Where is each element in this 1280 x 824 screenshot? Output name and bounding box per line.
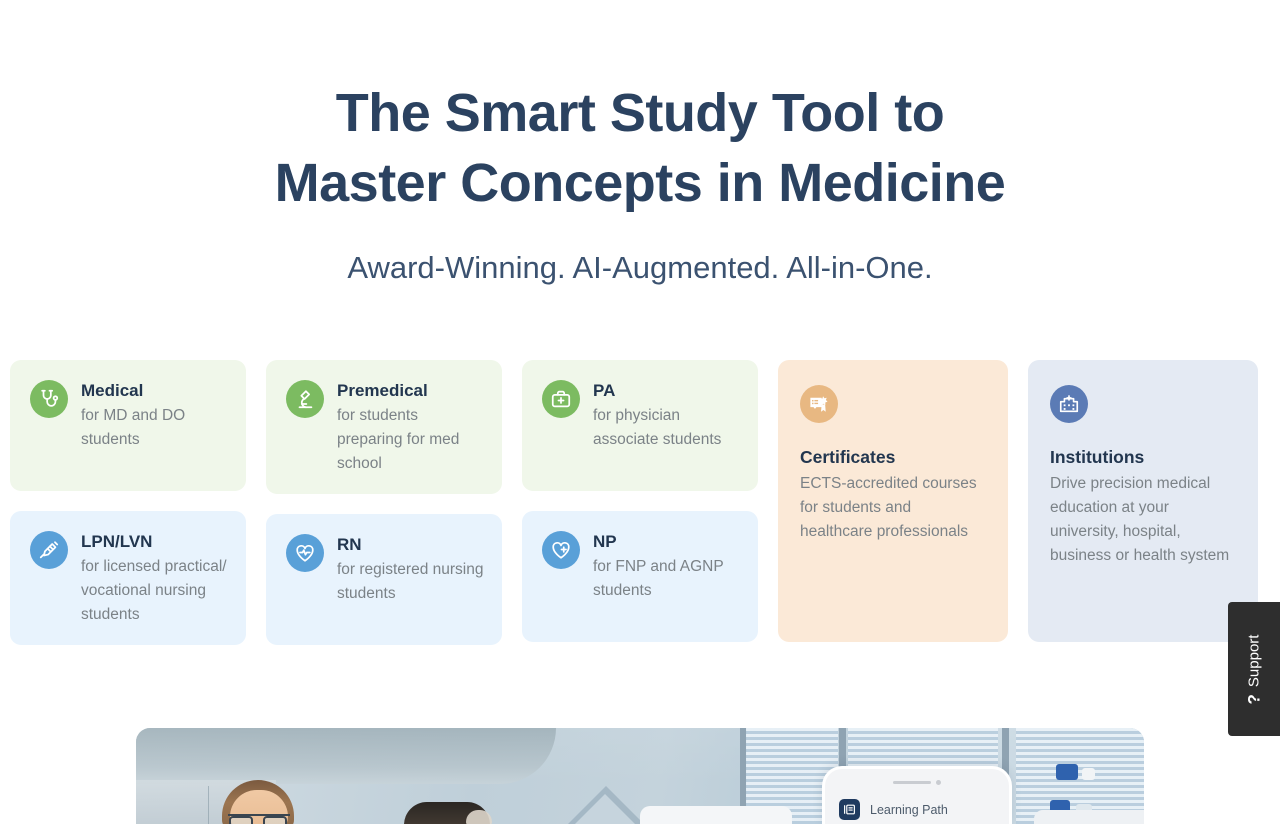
card-column-2: Premedical for students preparing for me… (266, 360, 502, 645)
card-pa-text: PA for physician associate students (593, 380, 742, 452)
card-rn[interactable]: RN for registered nursing students (266, 514, 502, 645)
card-rn-text: RN for registered nursing students (337, 534, 486, 606)
card-rn-desc: for registered nursing students (337, 558, 486, 606)
card-pa[interactable]: PA for physician associate students (522, 360, 758, 491)
support-tab-inner: ? Support (1246, 634, 1263, 704)
card-premedical-desc: for students preparing for med school (337, 404, 486, 476)
medical-bag-icon (542, 380, 580, 418)
support-tab[interactable]: ? Support (1228, 602, 1280, 736)
question-mark-icon: ? (1246, 694, 1263, 704)
support-tab-label: Support (1246, 634, 1263, 687)
learning-path-icon (839, 799, 860, 820)
phone-notch (882, 777, 952, 787)
syringe-icon (30, 531, 68, 569)
certificate-badge-icon (800, 385, 838, 423)
heart-pulse-icon (286, 534, 324, 572)
hero-section: The Smart Study Tool to Master Concepts … (0, 0, 1280, 288)
audience-cards-grid: Medical for MD and DO students LPN/LVN (10, 360, 1270, 645)
page-subtitle: Award-Winning. AI-Augmented. All-in-One. (0, 248, 1280, 288)
hero-photo-panel: Learning Path (136, 728, 1144, 824)
card-pa-title: PA (593, 380, 742, 402)
phone-learning-path-row[interactable]: Learning Path (839, 799, 948, 820)
card-premedical[interactable]: Premedical for students preparing for me… (266, 360, 502, 494)
card-certificates[interactable]: Certificates ECTS-accredited courses for… (778, 360, 1008, 642)
page-title: The Smart Study Tool to Master Concepts … (0, 78, 1280, 218)
phone-camera-dot (936, 780, 941, 785)
card-premedical-title: Premedical (337, 380, 486, 402)
photo-wall-top (136, 728, 556, 784)
glasses-lens-left (229, 816, 253, 824)
page-title-line-2: Master Concepts in Medicine (0, 148, 1280, 218)
heart-plus-icon (542, 531, 580, 569)
card-lpn-lvn-text: LPN/LVN for licensed practical/ vocation… (81, 531, 230, 627)
card-institutions-title: Institutions (1050, 445, 1236, 469)
card-medical-text: Medical for MD and DO students (81, 380, 230, 452)
card-lpn-lvn-desc: for licensed practical/ vocational nursi… (81, 555, 230, 627)
card-medical-title: Medical (81, 380, 230, 402)
card-institutions[interactable]: Institutions Drive precision medical edu… (1028, 360, 1258, 642)
microscope-icon (286, 380, 324, 418)
card-lpn-lvn[interactable]: LPN/LVN for licensed practical/ vocation… (10, 511, 246, 645)
phone-learning-path-label: Learning Path (870, 803, 948, 817)
photo-shelf-item-1 (1056, 764, 1078, 780)
page-title-line-1: The Smart Study Tool to (0, 78, 1280, 148)
card-premedical-text: Premedical for students preparing for me… (337, 380, 486, 476)
card-np-title: NP (593, 531, 742, 553)
card-medical-desc: for MD and DO students (81, 404, 230, 452)
card-certificates-title: Certificates (800, 445, 986, 469)
photo-wall-frame-inner (574, 794, 636, 824)
card-certificates-desc: ECTS-accredited courses for students and… (800, 472, 986, 544)
hospital-building-icon (1050, 385, 1088, 423)
card-np-desc: for FNP and AGNP students (593, 555, 742, 603)
photo-cabinet-divider (208, 786, 209, 824)
glasses-lens-right (263, 816, 287, 824)
card-column-1: Medical for MD and DO students LPN/LVN (10, 360, 246, 645)
phone-mockup: Learning Path (822, 766, 1012, 824)
photo-person-1-glasses (228, 814, 290, 824)
stethoscope-icon (30, 380, 68, 418)
photo-shelf-item-2 (1082, 768, 1095, 780)
card-institutions-desc: Drive precision medical education at you… (1050, 472, 1236, 568)
floating-ui-card-left (640, 806, 792, 824)
card-pa-desc: for physician associate students (593, 404, 742, 452)
card-column-3: PA for physician associate students NP f… (522, 360, 758, 642)
card-lpn-lvn-title: LPN/LVN (81, 531, 230, 553)
card-rn-title: RN (337, 534, 486, 556)
card-np-text: NP for FNP and AGNP students (593, 531, 742, 603)
landing-page: The Smart Study Tool to Master Concepts … (0, 0, 1280, 824)
phone-speaker-bar (893, 781, 931, 784)
card-np[interactable]: NP for FNP and AGNP students (522, 511, 758, 642)
floating-ui-card-right (1034, 810, 1144, 824)
card-medical[interactable]: Medical for MD and DO students (10, 360, 246, 491)
